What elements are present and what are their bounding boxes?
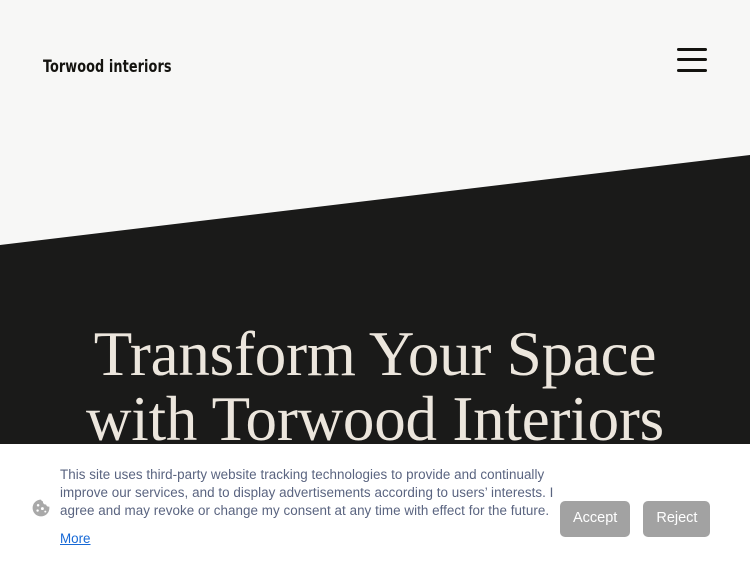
cookie-icon bbox=[32, 499, 50, 517]
hamburger-bar-2 bbox=[677, 58, 707, 61]
hero-title-line-1: Transform Your Space bbox=[0, 322, 750, 387]
cookie-actions: Accept Reject bbox=[560, 501, 710, 537]
hamburger-bar-3 bbox=[677, 69, 707, 72]
cookie-text-wrap: This site uses third-party website track… bbox=[60, 458, 560, 548]
cookie-message: This site uses third-party website track… bbox=[60, 466, 560, 520]
cookie-consent-banner: This site uses third-party website track… bbox=[0, 444, 750, 563]
page-root: Torwood interiors Transform Your Space w… bbox=[0, 0, 750, 563]
hero-title-line-2: with Torwood Interiors bbox=[0, 387, 750, 452]
hamburger-bar-1 bbox=[677, 48, 707, 51]
hamburger-menu-icon[interactable] bbox=[677, 48, 707, 72]
site-header: Torwood interiors bbox=[0, 0, 750, 120]
hero-content: Transform Your Space with Torwood Interi… bbox=[0, 322, 750, 452]
cookie-more-link[interactable]: More bbox=[60, 530, 91, 548]
brand-logo[interactable]: Torwood interiors bbox=[43, 57, 172, 77]
accept-button[interactable]: Accept bbox=[560, 501, 630, 537]
reject-button[interactable]: Reject bbox=[643, 501, 710, 537]
